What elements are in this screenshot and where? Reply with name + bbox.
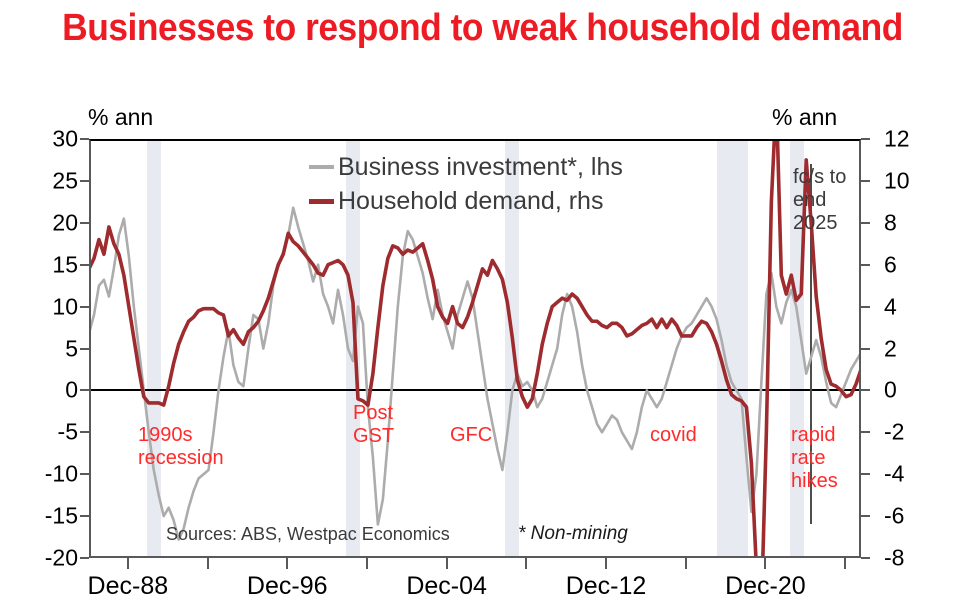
right-tick-mark	[861, 515, 870, 517]
right-tick-label: -8	[884, 545, 904, 572]
x-tick-label: Dec-12	[566, 572, 647, 601]
left-tick-label: 5	[65, 335, 78, 362]
x-tick-mark	[605, 558, 607, 569]
annotation-forecast-note-line1: fc/s to	[793, 166, 846, 189]
right-axis-ticks	[861, 139, 870, 558]
x-tick-mark	[525, 558, 527, 569]
page-title: Businesses to respond to weak household …	[34, 6, 931, 50]
chart-root: Businesses to respond to weak household …	[0, 0, 965, 613]
right-tick-label: -4	[884, 461, 904, 488]
legend-label-business-investment: Business investment*, lhs	[338, 153, 623, 182]
x-tick-mark	[844, 558, 846, 569]
x-tick-mark	[685, 558, 687, 569]
right-tick-mark	[861, 348, 870, 350]
x-tick-mark	[286, 558, 288, 569]
legend-swatch-business-investment	[309, 165, 334, 169]
left-tick-label: 30	[52, 126, 78, 153]
annotation-covid: covid	[650, 424, 697, 447]
right-tick-label: -2	[884, 419, 904, 446]
left-axis-labels: 302520151050-5-10-15-20	[0, 139, 82, 558]
annotation-rapid-rate-hikes: rapid rate hikes	[791, 424, 838, 493]
annotation-forecast-note-line3: 2025	[793, 212, 846, 235]
annotation-1990s-recession: 1990s recession	[138, 424, 224, 470]
annotation-rapid-rate-hikes-line2: rate	[791, 447, 838, 470]
right-axis-labels: 121086420-2-4-6-8	[878, 139, 958, 558]
left-tick-label: -20	[45, 545, 78, 572]
x-tick-label: Dec-96	[247, 572, 328, 601]
annotation-1990s-recession-line1: 1990s	[138, 424, 224, 447]
x-tick-mark	[366, 558, 368, 569]
right-tick-mark	[861, 222, 870, 224]
left-tick-label: 0	[65, 377, 78, 404]
annotation-1990s-recession-line2: recession	[138, 447, 224, 470]
right-tick-label: 10	[884, 167, 910, 194]
left-tick-label: 10	[52, 293, 78, 320]
right-tick-mark	[861, 431, 870, 433]
annotation-post-gst-line2: GST	[353, 425, 394, 448]
x-tick-label: Dec-88	[88, 572, 169, 601]
left-tick-label: -10	[45, 461, 78, 488]
right-tick-mark	[861, 264, 870, 266]
right-tick-label: -6	[884, 503, 904, 530]
right-tick-label: 2	[884, 335, 897, 362]
annotation-post-gst: Post GST	[353, 402, 394, 448]
annotation-post-gst-line1: Post	[353, 402, 394, 425]
right-tick-label: 0	[884, 377, 897, 404]
left-tick-label: -5	[58, 419, 78, 446]
right-tick-mark	[861, 138, 870, 140]
annotation-rapid-rate-hikes-line3: hikes	[791, 470, 838, 493]
right-tick-mark	[861, 389, 870, 391]
legend-label-household-demand: Household demand, rhs	[338, 187, 603, 216]
x-tick-label: Dec-20	[725, 572, 806, 601]
sources-note: Sources: ABS, Westpac Economics	[166, 524, 450, 545]
right-tick-label: 6	[884, 251, 897, 278]
left-tick-label: 25	[52, 167, 78, 194]
x-tick-mark	[446, 558, 448, 569]
right-tick-mark	[861, 180, 870, 182]
left-tick-label: 15	[52, 251, 78, 278]
annotation-covid-line1: covid	[650, 424, 697, 447]
annotation-gfc-line1: GFC	[450, 424, 492, 447]
right-tick-label: 12	[884, 126, 910, 153]
footnote-non-mining: * Non-mining	[518, 523, 628, 545]
x-tick-mark	[764, 558, 766, 569]
x-tick-mark	[207, 558, 209, 569]
legend-swatch-household-demand	[309, 199, 334, 204]
annotation-forecast-note: fc/s to end 2025	[793, 166, 846, 235]
left-axis-unit-label: % ann	[88, 104, 153, 131]
right-axis-unit-label: % ann	[772, 104, 837, 131]
right-tick-label: 4	[884, 293, 897, 320]
legend-item-household-demand: Household demand, rhs	[309, 184, 623, 218]
left-tick-label: -15	[45, 503, 78, 530]
right-tick-mark	[861, 306, 870, 308]
annotation-gfc: GFC	[450, 424, 492, 447]
chart-legend: Business investment*, lhs Household dema…	[309, 150, 623, 218]
right-tick-mark	[861, 473, 870, 475]
x-tick-label: Dec-04	[406, 572, 487, 601]
legend-item-business-investment: Business investment*, lhs	[309, 150, 623, 184]
left-tick-label: 20	[52, 209, 78, 236]
right-tick-mark	[861, 557, 870, 559]
right-tick-label: 8	[884, 209, 897, 236]
x-tick-mark	[127, 558, 129, 569]
x-axis-labels: Dec-88Dec-96Dec-04Dec-12Dec-20	[0, 572, 965, 606]
annotation-rapid-rate-hikes-line1: rapid	[791, 424, 838, 447]
annotation-forecast-note-line2: end	[793, 189, 846, 212]
x-axis-ticks	[89, 558, 861, 570]
